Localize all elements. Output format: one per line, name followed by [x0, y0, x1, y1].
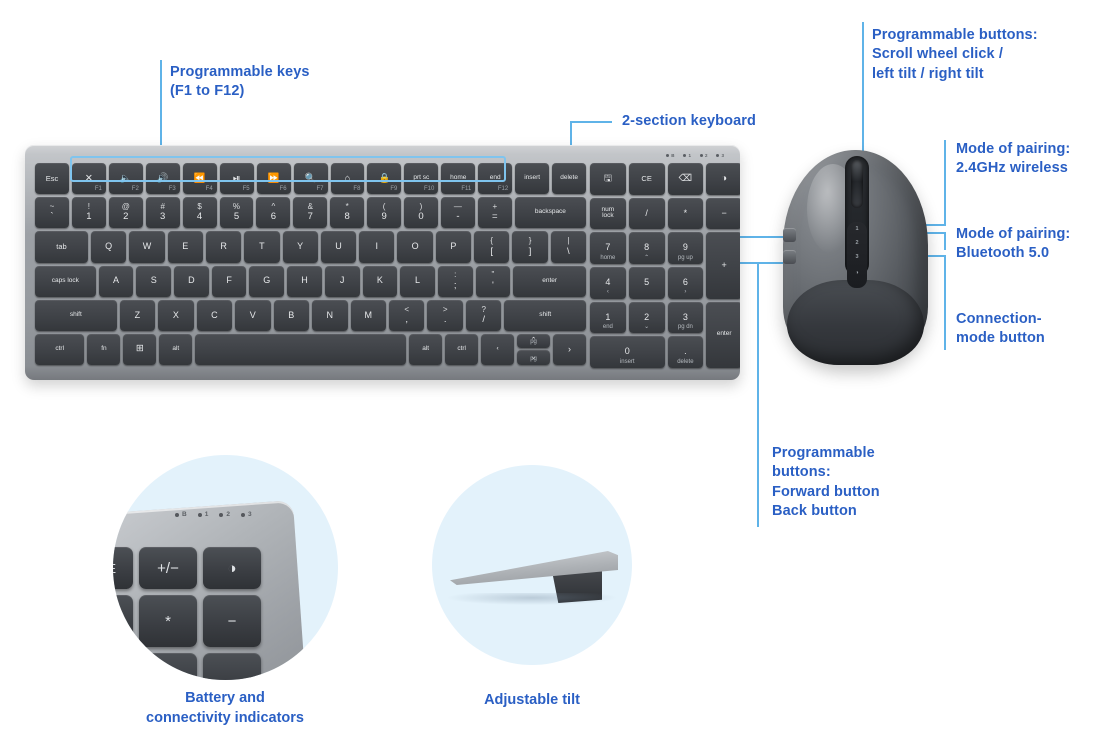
key-legend-lower: ]	[529, 247, 532, 257]
key-label: 4	[605, 278, 610, 287]
backspace-icon[interactable]: ⌫	[668, 163, 704, 195]
key-r[interactable]: R	[206, 231, 241, 262]
key-8[interactable]: *8	[330, 197, 364, 228]
key-fn-label: F7	[316, 186, 323, 192]
key-label: S	[151, 276, 157, 285]
key-j[interactable]: J	[325, 266, 360, 297]
key-shift[interactable]: shift	[504, 300, 586, 331]
led-battery: B	[666, 153, 674, 158]
calculator-icon[interactable]: 🖫	[590, 163, 626, 195]
key-label: enter	[717, 331, 732, 338]
key-secondary-label: delete	[668, 359, 704, 365]
key-row-shift-10[interactable]: ?/	[466, 300, 501, 331]
numpad-key-9[interactable]: 9pg up	[668, 232, 704, 264]
key-dual-legend: |\	[567, 237, 570, 256]
key-glyph: 🔊	[157, 174, 169, 184]
key-secondary-label: ›	[668, 289, 704, 295]
inset-key-connection-mode: ◑	[203, 547, 261, 589]
key-secondary-label: ⌄	[629, 324, 665, 330]
key-legend-upper: )	[420, 203, 423, 211]
home-icon[interactable]: ⌂F8	[331, 163, 365, 194]
leader-line-2section-h	[570, 121, 612, 123]
led-channel-2-label: 2	[705, 153, 708, 158]
key-label: I	[376, 242, 379, 251]
key-legend-lower: /	[482, 315, 485, 325]
key-legend-upper: —	[454, 203, 462, 211]
key-q[interactable]: Q	[91, 231, 126, 262]
key-legend-lower: .	[444, 315, 447, 325]
key-label: 7	[605, 243, 610, 252]
key-glyph: ⌫	[679, 174, 692, 184]
key-dual-legend: {[	[490, 237, 493, 256]
key-dual-legend: &7	[308, 203, 313, 222]
key-label: ‹	[497, 346, 499, 353]
key-label: Q	[105, 242, 112, 251]
led-dot-icon	[700, 154, 703, 157]
key-label: W	[143, 242, 152, 251]
inset-key-minus: −	[203, 595, 261, 647]
key-legend-lower: 9	[381, 212, 386, 222]
key-legend-upper: "	[491, 271, 494, 279]
inset-led-channel-2: 2	[219, 511, 230, 518]
key-dual-legend: }]	[529, 237, 532, 256]
key-label: Esc	[46, 175, 59, 183]
key-legend-upper: *	[346, 203, 349, 211]
key-fn-label: F9	[390, 186, 397, 192]
key-label: backspace	[535, 209, 566, 216]
key-legend-lower: 5	[234, 212, 239, 222]
key-c[interactable]: C	[197, 300, 232, 331]
keyboard-bottom-row: ctrlfn⊞altaltctrl‹⌃pg⌄pg›	[35, 334, 586, 365]
key-k[interactable]: K	[363, 266, 398, 297]
key-legend-lower: =	[492, 212, 498, 222]
key-fn-label: F12	[498, 186, 508, 192]
key-ctrl[interactable]: ctrl	[35, 334, 84, 365]
key-glyph: ⊞	[136, 344, 144, 354]
key-4[interactable]: $4	[183, 197, 217, 228]
mouse-mode-3-label: 3	[849, 254, 865, 260]
callout-programmable-keys: Programmable keys (F1 to F12)	[170, 63, 310, 102]
key-5[interactable]: %5	[220, 197, 254, 228]
mouse-mode-1-label: 1	[849, 226, 865, 232]
key-glyph: ◑	[721, 174, 727, 184]
key-dual-legend: $4	[197, 203, 202, 222]
led-dot-icon	[683, 154, 686, 157]
key-label: T	[259, 242, 265, 251]
key-enter[interactable]: enter	[513, 266, 586, 297]
key-legend-upper: +	[492, 203, 497, 211]
lock-icon[interactable]: 🔒F9	[367, 163, 401, 194]
mouse-mode-2-label: 2	[849, 240, 865, 246]
key-dual-legend: >.	[443, 306, 448, 325]
key-s[interactable]: S	[136, 266, 171, 297]
led-dot-icon	[716, 154, 719, 157]
key-dual-legend: +=	[492, 203, 498, 222]
led-channel-1: 1	[683, 153, 691, 158]
key-glyph: 🖫	[604, 174, 612, 184]
key-dual-legend: :;	[454, 271, 457, 290]
key-fn-label: F3	[169, 186, 176, 192]
numpad-key-enter[interactable]: enter	[706, 302, 740, 368]
key-label: K	[377, 276, 383, 285]
key-legend-lower: 1	[86, 212, 91, 222]
mouse-forward-button[interactable]	[783, 228, 796, 242]
mouse-scroll-wheel[interactable]	[851, 160, 863, 208]
inset-key-asterisk: *	[139, 595, 197, 647]
key-row-home-10[interactable]: :;	[438, 266, 473, 297]
key-fn-label: F4	[206, 186, 213, 192]
numpad-key-plus[interactable]: +	[706, 232, 740, 298]
key-row-shift-9[interactable]: >.	[427, 300, 462, 331]
key-label: *	[684, 209, 688, 218]
key-arrow-up[interactable]: ⌃pg	[517, 334, 550, 349]
led-dot-icon	[666, 154, 669, 157]
keyboard-function-row: Esc✕F1🔈F2🔊F3⏪F4⏯F5⏩F6🔍F7⌂F8🔒F9prt scF10h…	[35, 163, 586, 194]
key-t[interactable]: T	[244, 231, 279, 262]
inset-led-strip: B 1 2 3	[175, 511, 252, 518]
previous-track-icon[interactable]: ⏪F4	[183, 163, 217, 194]
key-fn-label: F10	[424, 186, 434, 192]
key-label: +	[721, 261, 726, 270]
key-secondary-label: home	[590, 255, 626, 261]
key-row-num-0[interactable]: ~`	[35, 197, 69, 228]
led-battery-label: B	[671, 153, 674, 158]
volume-up-icon[interactable]: 🔊F3	[146, 163, 180, 194]
key-label: prt sc	[413, 175, 429, 182]
key-label: N	[327, 311, 334, 320]
inset-key-blank	[113, 595, 133, 647]
key-label: L	[415, 276, 420, 285]
numpad-key-2[interactable]: 2⌄	[629, 302, 665, 334]
inset-key-plusminus: +/−	[139, 547, 197, 589]
key-6[interactable]: ^6	[256, 197, 290, 228]
key-label: Y	[297, 242, 303, 251]
key-label: delete	[560, 175, 578, 182]
key-esc[interactable]: Esc	[35, 163, 69, 194]
volume-down-icon[interactable]: 🔈F2	[109, 163, 143, 194]
numpad-key-/[interactable]: /	[629, 198, 665, 230]
key-u[interactable]: U	[321, 231, 356, 262]
key-prt-sc[interactable]: prt scF10	[404, 163, 438, 194]
key-fn-label: F6	[280, 186, 287, 192]
keyboard-illustration: B 1 2 3 Esc✕F1🔈F2🔊F3⏪F4⏯F5⏩F6🔍F7⌂F8🔒F9pr…	[25, 145, 740, 380]
key-dual-legend: )0	[418, 203, 423, 222]
key-alt[interactable]: alt	[159, 334, 192, 365]
key-label: 2	[644, 313, 649, 322]
key-label: V	[250, 311, 256, 320]
key-label: G	[263, 276, 270, 285]
keyboard-led-strip: B 1 2 3	[666, 153, 724, 158]
key-caps-lock[interactable]: caps lock	[35, 266, 96, 297]
numpad-key-1[interactable]: 1end	[590, 302, 626, 334]
key-label: shift	[539, 312, 551, 319]
key-label: alt	[422, 346, 429, 353]
numpad-key-−[interactable]: −	[706, 198, 740, 230]
key-y[interactable]: Y	[283, 231, 318, 262]
keyboard-home-row: caps lockASDFGHJKL:;"'enter	[35, 266, 586, 297]
key-label: home	[450, 175, 466, 182]
mouse-illustration: 1 2 3 ◑	[775, 150, 935, 365]
key-legend-upper: @	[122, 203, 130, 211]
mouse-back-button[interactable]	[783, 250, 796, 264]
numpad-key-ce[interactable]: CE	[629, 163, 665, 195]
key-fn-label: F11	[461, 186, 471, 192]
key-arrow-down[interactable]: ⌄pg	[517, 350, 550, 365]
numpad-key-4[interactable]: 4‹	[590, 267, 626, 299]
key-dual-legend: ^6	[271, 203, 276, 222]
search-icon[interactable]: 🔍F7	[294, 163, 328, 194]
key-row-bottom-7[interactable]: ‹	[481, 334, 514, 365]
key-legend-lower: 2	[123, 212, 128, 222]
key-x[interactable]: X	[158, 300, 193, 331]
key-z[interactable]: Z	[120, 300, 155, 331]
led-dot-icon	[241, 513, 245, 517]
key-row-qwerty-13[interactable]: |\	[551, 231, 586, 262]
key-label: 0	[625, 347, 630, 356]
key-1[interactable]: !1	[72, 197, 106, 228]
keyboard-top-bar: B 1 2 3	[35, 154, 730, 163]
key-glyph: ⌂	[345, 174, 351, 184]
inset-key-blank-2	[203, 653, 261, 680]
key-label: U	[335, 242, 342, 251]
key-delete[interactable]: delete	[552, 163, 586, 194]
led-channel-1-label: 1	[688, 153, 691, 158]
key-row-bottom-4[interactable]	[195, 334, 406, 365]
key-backspace[interactable]: backspace	[515, 197, 586, 228]
key-row-home-11[interactable]: "'	[476, 266, 511, 297]
leader-line-bt-v	[944, 232, 946, 250]
key-secondary-label: pg	[517, 339, 550, 345]
key-legend-lower: `	[50, 212, 53, 222]
key-2[interactable]: @2	[109, 197, 143, 228]
key-9[interactable]: (9	[367, 197, 401, 228]
key-legend-lower: 7	[308, 212, 313, 222]
key-label: R	[220, 242, 227, 251]
key-legend-upper: }	[529, 237, 532, 245]
leader-line-side-v	[757, 262, 759, 527]
numpad-key-6[interactable]: 6›	[668, 267, 704, 299]
key-legend-upper: #	[160, 203, 164, 211]
key-secondary-label: end	[590, 324, 626, 330]
key-legend-upper: ~	[50, 203, 55, 211]
key-v[interactable]: V	[235, 300, 270, 331]
key-secondary-label: ‹	[590, 289, 626, 295]
key-o[interactable]: O	[397, 231, 432, 262]
led-dot-icon	[175, 513, 179, 517]
caption-battery-indicators: Battery and connectivity indicators	[95, 688, 355, 729]
key-dual-legend: *8	[345, 203, 350, 222]
key-glyph: ⏯	[233, 174, 241, 184]
key-legend-upper: !	[88, 203, 90, 211]
key-label: 6	[683, 278, 688, 287]
key-label: enter	[542, 278, 557, 285]
key-label: ctrl	[457, 346, 466, 353]
volume-mute-icon[interactable]: ✕F1	[72, 163, 106, 194]
key-label: M	[365, 311, 373, 320]
callout-programmable-buttons-scroll: Programmable buttons: Scroll wheel click…	[872, 26, 1038, 84]
key-row-qwerty-12[interactable]: }]	[512, 231, 547, 262]
key-dual-legend: (9	[381, 203, 386, 222]
numpad-key-3[interactable]: 3pg dn	[668, 302, 704, 334]
numpad-key-num-lock[interactable]: num lock	[590, 198, 626, 230]
key-ctrl[interactable]: ctrl	[445, 334, 478, 365]
keyboard-number-row: ~`!1@2#3$4%5^6&7*8(9)0—-+=backspace	[35, 197, 586, 228]
key-end[interactable]: endF12	[478, 163, 512, 194]
key-row-num-12[interactable]: +=	[478, 197, 512, 228]
connection-mode-icon[interactable]: ◑	[706, 163, 740, 195]
key-h[interactable]: H	[287, 266, 322, 297]
key-f[interactable]: F	[212, 266, 247, 297]
key-row-num-11[interactable]: —-	[441, 197, 475, 228]
numpad-key-*[interactable]: *	[668, 198, 704, 230]
key-e[interactable]: E	[168, 231, 203, 262]
key-dual-legend: @2	[122, 203, 130, 222]
callout-connection-mode-button: Connection- mode button	[956, 310, 1045, 349]
key-row-qwerty-11[interactable]: {[	[474, 231, 509, 262]
key-glyph: 🔍	[305, 174, 317, 184]
numpad-key-8[interactable]: 8⌃	[629, 232, 665, 264]
key-legend-upper: <	[404, 306, 409, 314]
key-fn[interactable]: fn	[87, 334, 120, 365]
mouse-mode-panel: 1 2 3 ◑	[847, 222, 867, 288]
keyboard-qwerty-row: tabQWERTYUIOP{[}]|\	[35, 231, 586, 262]
key-label: O	[412, 242, 419, 251]
key-label: J	[340, 276, 345, 285]
key-legend-upper: ?	[481, 306, 485, 314]
numpad-key-7[interactable]: 7home	[590, 232, 626, 264]
key-shift[interactable]: shift	[35, 300, 117, 331]
key-secondary-label: insert	[590, 359, 665, 365]
play-pause-icon[interactable]: ⏯F5	[220, 163, 254, 194]
key-glyph: ⏩	[268, 174, 280, 184]
keyboard-shift-row: shiftZXCVBNM<,>.?/shift	[35, 300, 586, 331]
numpad-key-decimal[interactable]: .delete	[668, 336, 704, 368]
key-label: D	[188, 276, 195, 285]
keyboard-numpad-section: 🖫CE⌫◑num lock/*−7home8⌃9pg up+4‹56›1end2…	[590, 163, 740, 368]
key-3[interactable]: #3	[146, 197, 180, 228]
key-label: CE	[641, 175, 651, 183]
inset-key-nine: 9	[139, 653, 197, 680]
key-fn-label: F1	[95, 186, 102, 192]
key-label: tab	[56, 243, 66, 251]
callout-mode-24ghz: Mode of pairing: 2.4GHz wireless	[956, 140, 1070, 179]
key-legend-upper: |	[567, 237, 569, 245]
callout-programmable-buttons-side: Programmable buttons: Forward button Bac…	[772, 444, 880, 522]
numpad-key-5[interactable]: 5	[629, 267, 665, 299]
key-legend-lower: -	[456, 212, 459, 222]
key-legend-upper: ^	[272, 203, 276, 211]
key-label: /	[645, 209, 648, 218]
key-legend-upper: (	[383, 203, 386, 211]
key-glyph: 🔒	[378, 174, 390, 184]
key-secondary-label: pg dn	[668, 324, 704, 330]
key-label: insert	[524, 175, 540, 182]
inset-led-channel-2-label: 2	[226, 511, 230, 518]
key-p[interactable]: P	[436, 231, 471, 262]
key-label: H	[301, 276, 308, 285]
inset-key-ce: CE	[113, 547, 133, 589]
key-legend-lower: 8	[345, 212, 350, 222]
key-legend-upper: $	[197, 203, 201, 211]
key-label: 5	[644, 278, 649, 287]
key-b[interactable]: B	[274, 300, 309, 331]
key-legend-upper: {	[490, 237, 493, 245]
key-label: −	[721, 209, 726, 218]
key-label: B	[288, 311, 294, 320]
arrow-key-stack: ⌃pg⌄pg	[517, 334, 550, 365]
key-a[interactable]: A	[99, 266, 134, 297]
key-alt[interactable]: alt	[409, 334, 442, 365]
key-label: 3	[683, 313, 688, 322]
led-dot-icon	[219, 513, 223, 517]
inset-led-channel-1-label: 1	[205, 511, 209, 518]
key-tab[interactable]: tab	[35, 231, 88, 262]
inset-led-channel-3: 3	[241, 511, 252, 518]
key-label: 8	[644, 243, 649, 252]
led-channel-2: 2	[700, 153, 708, 158]
key-7[interactable]: &7	[293, 197, 327, 228]
key-arrow-right[interactable]: ›	[553, 334, 586, 365]
key-home[interactable]: homeF11	[441, 163, 475, 194]
leader-line-24ghz-v	[944, 140, 946, 225]
key-0[interactable]: )0	[404, 197, 438, 228]
key-m[interactable]: M	[351, 300, 386, 331]
key-n[interactable]: N	[312, 300, 347, 331]
connection-mode-button-icon[interactable]: ◑	[849, 270, 865, 276]
key-label: num lock	[602, 207, 615, 221]
key-glyph: ✕	[85, 174, 93, 184]
key-label: Z	[135, 311, 141, 320]
key-g[interactable]: G	[249, 266, 284, 297]
key-label: 1	[605, 313, 610, 322]
inset-battery-indicators: B 1 2 3 CE +/− ◑ * − 9	[113, 455, 338, 680]
key-legend-upper: :	[454, 271, 456, 279]
windows-icon[interactable]: ⊞	[123, 334, 156, 365]
numpad-grid: 🖫CE⌫◑num lock/*−7home8⌃9pg up+4‹56›1end2…	[590, 163, 740, 368]
key-label: 9	[683, 243, 688, 252]
key-secondary-label: pg up	[668, 255, 704, 261]
callout-2section-keyboard: 2-section keyboard	[622, 112, 756, 131]
key-dual-legend: #3	[160, 203, 165, 222]
key-legend-lower: '	[492, 281, 494, 291]
product-diagram: Programmable keys (F1 to F12) 2-section …	[0, 0, 1106, 734]
key-label: C	[211, 311, 218, 320]
key-i[interactable]: I	[359, 231, 394, 262]
key-d[interactable]: D	[174, 266, 209, 297]
next-track-icon[interactable]: ⏩F6	[257, 163, 291, 194]
key-l[interactable]: L	[400, 266, 435, 297]
key-dual-legend: ?/	[481, 306, 485, 325]
key-w[interactable]: W	[129, 231, 164, 262]
key-glyph: ⏪	[194, 174, 206, 184]
key-row-shift-8[interactable]: <,	[389, 300, 424, 331]
numpad-key-0[interactable]: 0insert	[590, 336, 665, 368]
key-label: A	[113, 276, 119, 285]
key-legend-lower: ,	[405, 315, 408, 325]
key-insert[interactable]: insert	[515, 163, 549, 194]
inset-adjustable-tilt	[432, 465, 632, 665]
key-label: fn	[101, 346, 106, 353]
inset-led-channel-1: 1	[198, 511, 209, 518]
key-label: P	[450, 242, 456, 251]
key-dual-legend: ~`	[50, 203, 55, 222]
key-dual-legend: %5	[233, 203, 240, 222]
tilt-keyboard-profile	[450, 551, 618, 599]
key-label: caps lock	[52, 278, 79, 285]
key-label: .	[684, 347, 687, 356]
key-label: shift	[70, 312, 82, 319]
key-legend-lower: [	[490, 247, 493, 257]
